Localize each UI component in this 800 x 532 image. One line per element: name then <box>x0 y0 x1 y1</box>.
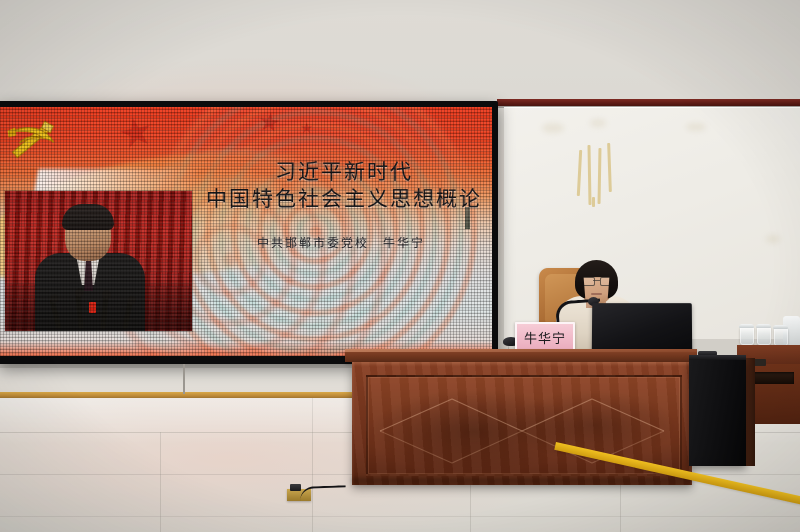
floor-outlet-lid <box>290 484 301 491</box>
desk-floor-shadow <box>352 478 692 488</box>
photo-microphone-head <box>75 288 84 297</box>
slide-star-icon: ★ <box>256 108 283 137</box>
nameplate-text: 牛华宁 <box>524 328 566 347</box>
slide-photo-inset <box>5 191 192 331</box>
led-screen-bezel: ★ ★ ★ <box>0 101 498 364</box>
slide-title-line2: 中国特色社会主义思想概论 <box>196 186 492 213</box>
laptop-screen[interactable] <box>592 303 692 355</box>
desk-surface-highlight <box>345 349 697 352</box>
rack-side-wood-panel <box>746 358 755 466</box>
led-screen-display: ★ ★ ★ <box>0 107 492 356</box>
slide-subtitle: 中共邯郸市委党校 牛华宁 <box>196 234 486 251</box>
water-glass <box>774 328 788 346</box>
desk-diamond-inlay <box>366 375 678 472</box>
slide-title: 习近平新时代 中国特色社会主义思想概论 <box>196 159 492 213</box>
water-glass <box>740 327 754 345</box>
water-glass-lid <box>739 324 754 328</box>
presenter-glasses <box>581 277 612 284</box>
photo-microphone-head <box>127 296 136 305</box>
av-equipment-rack <box>689 360 746 466</box>
slide-title-line1: 习近平新时代 <box>196 159 492 186</box>
desk-inlay-lines <box>366 375 678 472</box>
water-glass <box>757 327 771 345</box>
photo-microphone-flag <box>89 302 96 313</box>
photo-microphone-head <box>50 294 59 303</box>
photo-microphone-head <box>102 290 111 299</box>
floor-outlet-cable <box>300 485 346 501</box>
presenter-mouth <box>591 293 602 295</box>
wall-trim-rail <box>497 99 800 106</box>
slide-star-icon: ★ <box>300 121 313 136</box>
photo-person-hair <box>62 204 114 230</box>
water-glass-lid <box>756 324 771 328</box>
screen-power-cable <box>183 364 185 394</box>
water-glass-lid <box>773 325 788 329</box>
screen-edge-chip <box>465 207 470 229</box>
lecture-hall-scene: ★ ★ ★ <box>0 0 800 532</box>
party-emblem-icon <box>3 115 65 163</box>
